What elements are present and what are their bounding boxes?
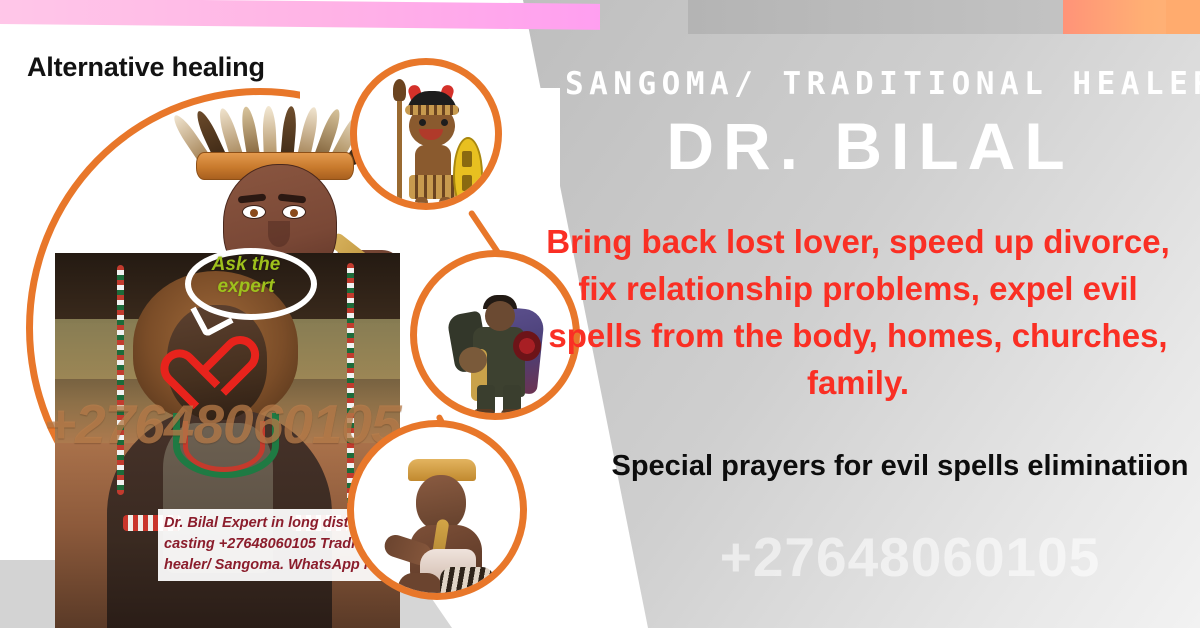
healer-shoe-left <box>473 409 495 419</box>
eye-left <box>242 205 266 219</box>
warrior-headband <box>405 105 459 115</box>
page-title: Alternative healing <box>27 52 265 83</box>
photo-watermark-phone: +27648060105 <box>44 392 401 456</box>
orange-corner-bar <box>1166 0 1200 34</box>
eyebrow-left <box>238 194 267 204</box>
warrior-leg-left <box>415 197 428 210</box>
phone-watermark: +27648060105 <box>620 525 1200 589</box>
zulu-warrior-badge[interactable] <box>350 58 502 210</box>
eye-right <box>282 205 306 219</box>
healer-head <box>485 301 515 331</box>
spear-head-icon <box>393 79 406 101</box>
eyebrow-right <box>278 194 307 204</box>
healer-bag <box>459 347 487 373</box>
shield-icon <box>453 137 483 210</box>
crouching-healer-skirt <box>440 567 494 600</box>
photo-bead-strand-left <box>117 265 124 495</box>
warrior-eye-left <box>419 119 426 126</box>
crouching-healer-badge[interactable] <box>347 420 527 600</box>
warrior-skirt <box>409 175 457 199</box>
special-offer-text: Special prayers for evil spells eliminat… <box>610 444 1190 488</box>
kicker-text: SANGOMA/ TRADITIONAL HEALER <box>565 66 1175 102</box>
services-text: Bring back lost lover, speed up divorce,… <box>533 218 1183 406</box>
nose <box>268 221 290 247</box>
speech-bubble-text: Ask the expert <box>196 254 296 298</box>
spear-icon <box>397 87 402 210</box>
practitioner-name: DR. BILAL <box>565 108 1175 184</box>
pink-top-bar <box>0 0 600 30</box>
poster-canvas: Alternative healing <box>0 0 1200 628</box>
warrior-eye-right <box>441 119 448 126</box>
